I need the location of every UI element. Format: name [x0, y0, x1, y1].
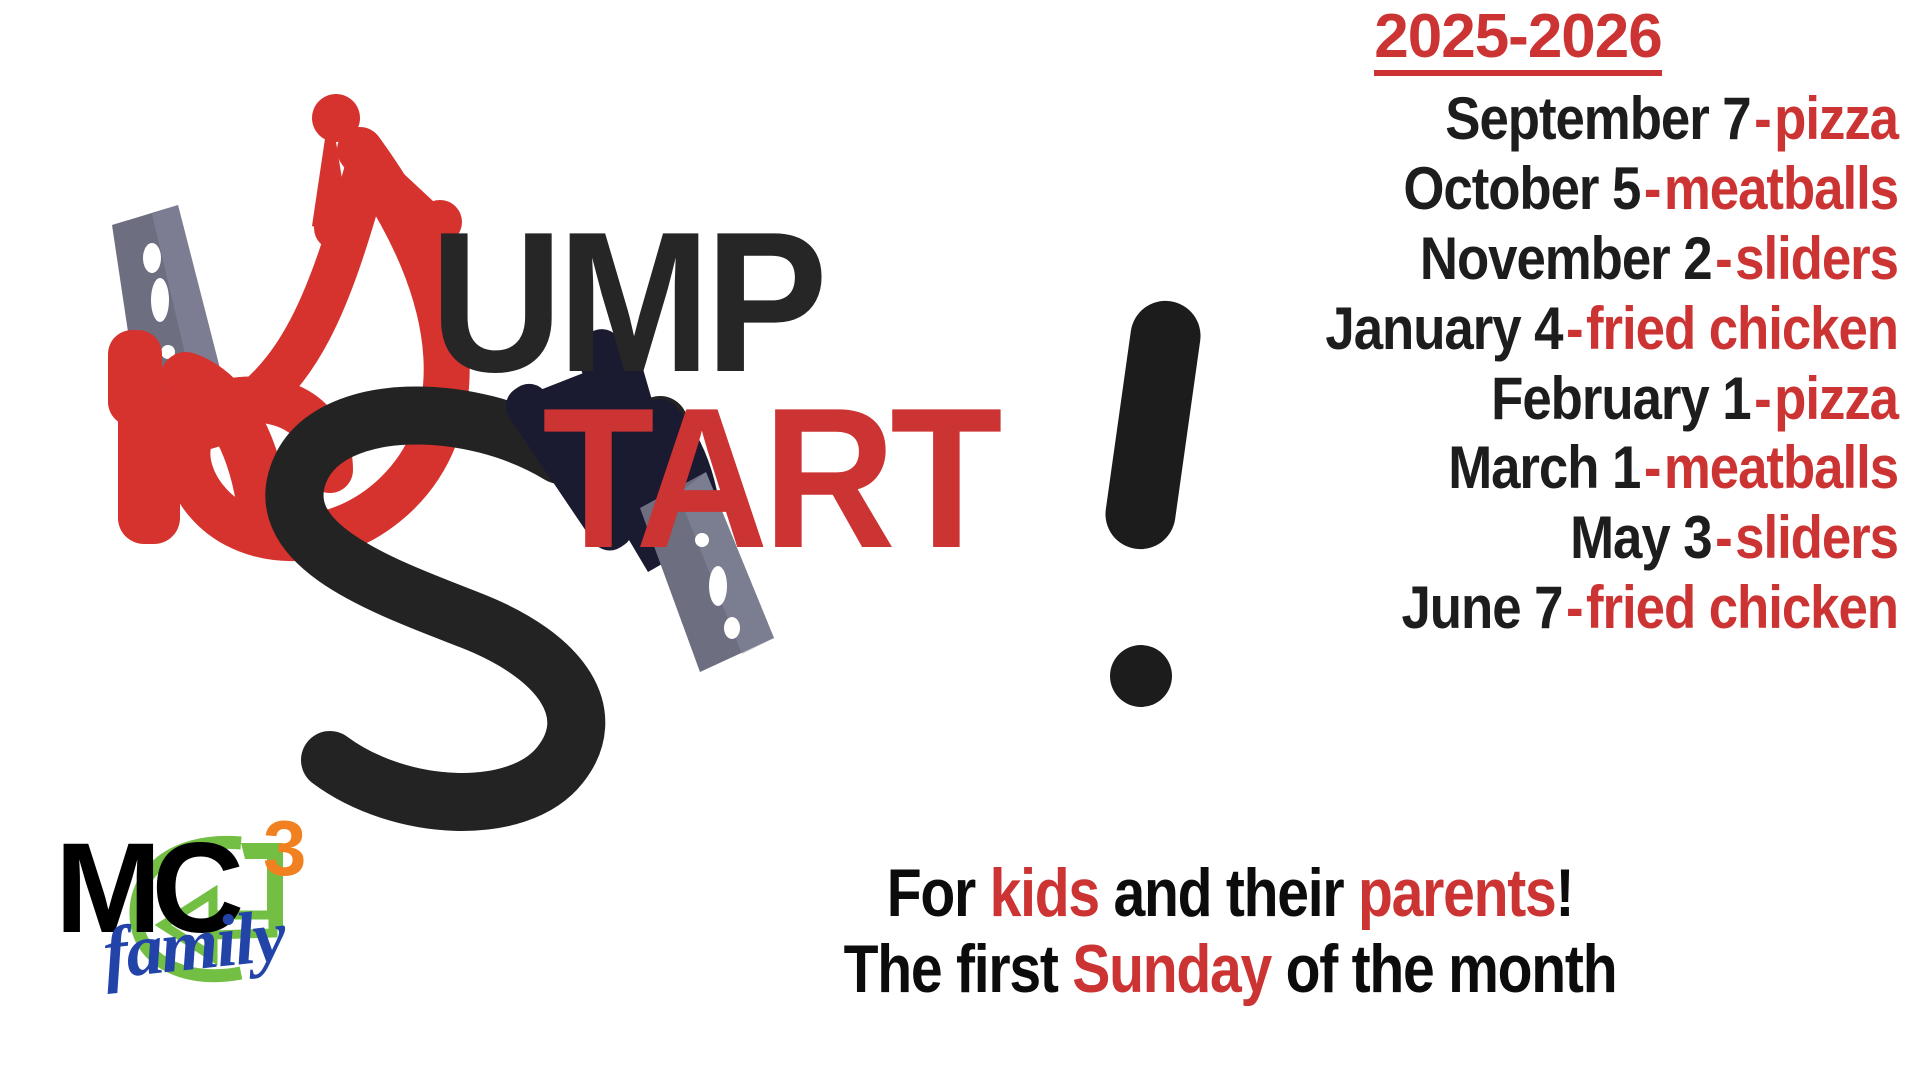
schedule-row: January 4-fried chicken [1229, 294, 1898, 364]
jump-start-wordmark: UMP TART [430, 215, 997, 567]
schedule-date: September 7 [1445, 85, 1750, 152]
schedule-meal: pizza [1774, 85, 1898, 152]
exclamation-dot [1110, 645, 1172, 707]
schedule-date: February 1 [1491, 365, 1750, 432]
schedule-dash: - [1562, 295, 1586, 362]
jump-start-artwork: UMP TART [0, 0, 1300, 900]
tagline-1-part2: and their [1099, 855, 1358, 931]
schedule-meal: sliders [1735, 504, 1898, 571]
schedule-row: November 2-sliders [1229, 224, 1898, 294]
logo-superscript-3: 3 [263, 809, 306, 887]
schedule-date: June 7 [1401, 574, 1562, 641]
wordmark-line-2: TART [542, 391, 997, 567]
schedule-row: May 3-sliders [1229, 503, 1898, 573]
schedule-dash: - [1640, 155, 1664, 222]
schedule-date: November 2 [1420, 225, 1712, 292]
schedule-date: October 5 [1403, 155, 1640, 222]
flyer-canvas: UMP TART MC 3 family 2025-2026 September… [0, 0, 1920, 1080]
tagline-block: For kids and their parents! The first Su… [560, 855, 1900, 1007]
schedule-block: 2025-2026 September 7-pizza October 5-me… [1138, 6, 1898, 643]
schedule-meal: fried chicken [1586, 574, 1898, 641]
schedule-row: September 7-pizza [1229, 84, 1898, 154]
tagline-line-1: For kids and their parents! [667, 855, 1793, 931]
schedule-year-heading: 2025-2026 [1138, 6, 1898, 80]
mc3-family-logo: MC 3 family [45, 815, 345, 1010]
tagline-line-2: The first Sunday of the month [667, 931, 1793, 1007]
schedule-date: March 1 [1448, 434, 1640, 501]
schedule-year-text: 2025-2026 [1374, 6, 1662, 76]
tagline-2-part2: of the month [1271, 931, 1616, 1007]
schedule-row: March 1-meatballs [1229, 433, 1898, 503]
schedule-dash: - [1562, 574, 1586, 641]
schedule-dash: - [1712, 225, 1736, 292]
tagline-2-part1: The first [844, 931, 1073, 1007]
schedule-meal: meatballs [1664, 155, 1898, 222]
tagline-1-parents: parents [1358, 855, 1556, 931]
schedule-meal: meatballs [1664, 434, 1898, 501]
schedule-dash: - [1751, 85, 1775, 152]
schedule-row: October 5-meatballs [1229, 154, 1898, 224]
schedule-date: January 4 [1325, 295, 1562, 362]
schedule-dash: - [1640, 434, 1664, 501]
schedule-meal: pizza [1774, 365, 1898, 432]
schedule-date: May 3 [1570, 504, 1711, 571]
tagline-2-sunday: Sunday [1072, 931, 1271, 1007]
tagline-1-part1: For [887, 855, 990, 931]
tagline-1-kids: kids [990, 855, 1099, 931]
schedule-meal: fried chicken [1586, 295, 1898, 362]
schedule-row: February 1-pizza [1229, 364, 1898, 434]
schedule-row: June 7-fried chicken [1229, 573, 1898, 643]
schedule-dash: - [1712, 504, 1736, 571]
schedule-meal: sliders [1735, 225, 1898, 292]
tagline-1-part3: ! [1555, 855, 1573, 931]
schedule-dash: - [1751, 365, 1775, 432]
